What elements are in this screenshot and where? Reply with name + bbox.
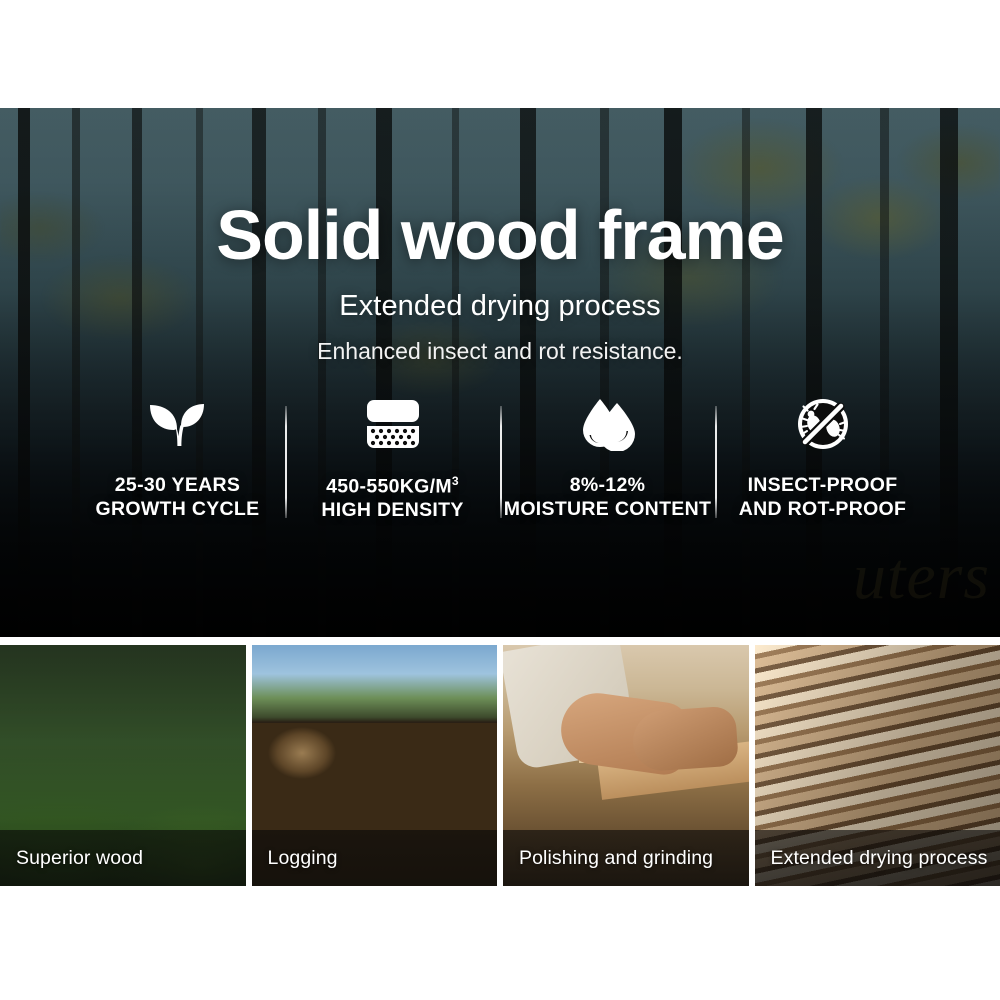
caption-band: Superior wood <box>0 830 246 886</box>
feature-label-line1: 25-30 YEARS <box>115 474 240 496</box>
feature-label: INSECT-PROOF AND ROT-PROOF <box>739 474 906 522</box>
feature-label-line1: 450-550KG/M <box>326 476 452 498</box>
photo-tile-superior-wood: Superior wood <box>0 645 246 886</box>
caption-band: Polishing and grinding <box>503 830 749 886</box>
hero-title: Solid wood frame <box>0 200 1000 270</box>
feature-label-line2: AND ROT-PROOF <box>739 498 906 520</box>
product-infographic-page: uters Solid wood frame Extended drying p… <box>0 0 1000 1000</box>
no-insect-icon <box>796 396 850 452</box>
feature-insect-rot-proof: INSECT-PROOF AND ROT-PROOF <box>715 396 930 522</box>
hero-subtitle: Extended drying process <box>0 290 1000 323</box>
feature-moisture-content: 8%-12% MOISTURE CONTENT <box>500 396 715 522</box>
feature-label-line2: HIGH DENSITY <box>321 499 463 521</box>
caption-band: Extended drying process <box>755 830 1000 886</box>
feature-label-line1: 8%-12% <box>570 474 646 496</box>
hero-content: Solid wood frame Extended drying process… <box>0 108 1000 637</box>
feature-high-density: 450-550KG/M3 HIGH DENSITY <box>285 396 500 523</box>
feature-label: 450-550KG/M3 HIGH DENSITY <box>321 474 463 523</box>
leaf-sprout-icon <box>147 396 209 452</box>
feature-row: 25-30 YEARS GROWTH CYCLE <box>70 396 930 536</box>
feature-label: 8%-12% MOISTURE CONTENT <box>504 474 711 522</box>
tile-caption: Polishing and grinding <box>503 847 713 870</box>
feature-label-line2: GROWTH CYCLE <box>96 498 260 520</box>
tile-caption: Logging <box>252 847 338 870</box>
hero-banner: uters Solid wood frame Extended drying p… <box>0 108 1000 637</box>
feature-label: 25-30 YEARS GROWTH CYCLE <box>96 474 260 522</box>
tile-caption: Superior wood <box>0 847 143 870</box>
photo-tile-drying: Extended drying process <box>755 645 1000 886</box>
photo-strip: Superior wood Logging Polishing and grin… <box>0 645 1000 886</box>
feature-label-line1: INSECT-PROOF <box>748 474 898 496</box>
caption-band: Logging <box>252 830 498 886</box>
water-droplets-icon <box>579 396 637 452</box>
hero-tagline: Enhanced insect and rot resistance. <box>0 338 1000 365</box>
density-block-icon <box>365 396 421 452</box>
feature-label-superscript: 3 <box>452 474 459 488</box>
photo-tile-polishing: Polishing and grinding <box>503 645 749 886</box>
feature-label-line2: MOISTURE CONTENT <box>504 498 711 520</box>
photo-tile-logging: Logging <box>252 645 498 886</box>
feature-growth-cycle: 25-30 YEARS GROWTH CYCLE <box>70 396 285 522</box>
tile-caption: Extended drying process <box>755 847 988 870</box>
second-hand-detail <box>631 705 739 772</box>
